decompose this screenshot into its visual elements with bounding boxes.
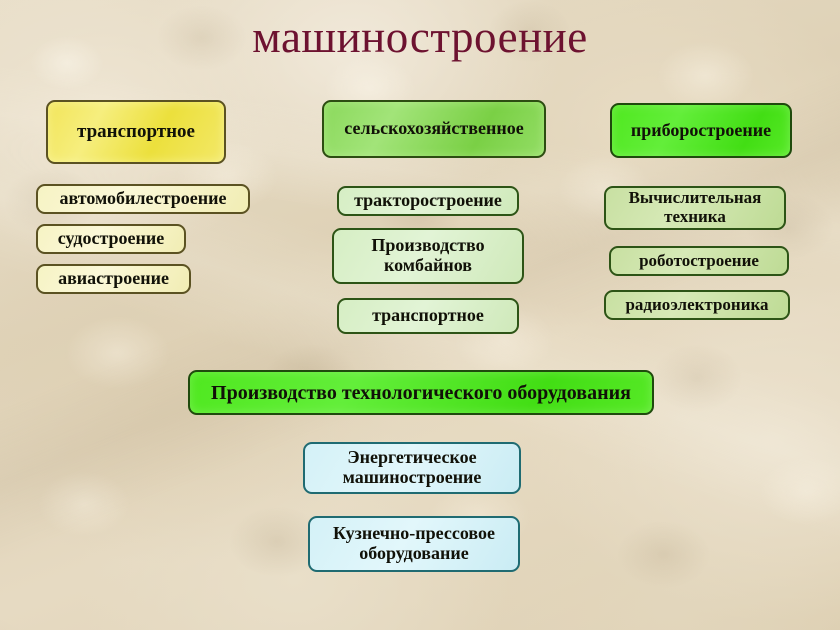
category-item-computing[interactable]: Вычислительная техника bbox=[604, 186, 786, 230]
category-item-combine[interactable]: Производство комбайнов bbox=[332, 228, 524, 284]
category-header-agriculture[interactable]: сельскохозяйственное bbox=[322, 100, 546, 158]
category-header-transport[interactable]: транспортное bbox=[46, 100, 226, 164]
category-item-forging-press[interactable]: Кузнечно-прессовое оборудование bbox=[308, 516, 520, 572]
category-header-instruments[interactable]: приборостроение bbox=[610, 103, 792, 158]
category-item-power-engineering[interactable]: Энергетическое машиностроение bbox=[303, 442, 521, 494]
category-item-tractor[interactable]: тракторостроение bbox=[337, 186, 519, 216]
slide-canvas: машиностроение транспортное автомобилест… bbox=[0, 0, 840, 630]
category-item-aviation[interactable]: авиастроение bbox=[36, 264, 191, 294]
page-title: машиностроение bbox=[0, 8, 840, 66]
category-header-technological-equipment[interactable]: Производство технологического оборудован… bbox=[188, 370, 654, 415]
category-item-transport-agri[interactable]: транспортное bbox=[337, 298, 519, 334]
category-item-robotics[interactable]: роботостроение bbox=[609, 246, 789, 276]
category-item-automobile[interactable]: автомобилестроение bbox=[36, 184, 250, 214]
category-item-radioelectronics[interactable]: радиоэлектроника bbox=[604, 290, 790, 320]
category-item-shipbuilding[interactable]: судостроение bbox=[36, 224, 186, 254]
